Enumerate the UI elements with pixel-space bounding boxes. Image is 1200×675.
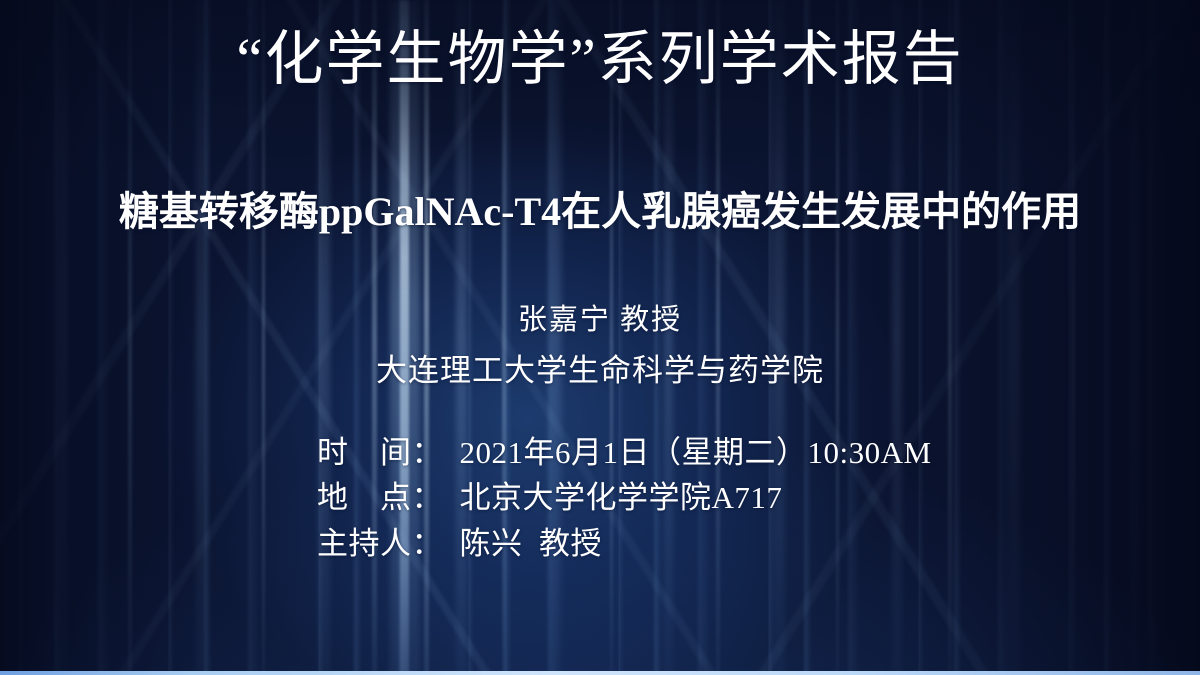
talk-title: 糖基转移酶ppGalNAc-T4在人乳腺癌发生发展中的作用 <box>0 188 1200 235</box>
speaker-name: 张嘉宁 教授 <box>0 303 1200 338</box>
slide-content: “化学生物学”系列学术报告 糖基转移酶ppGalNAc-T4在人乳腺癌发生发展中… <box>0 0 1200 675</box>
speaker-affiliation: 大连理工大学生命科学与药学院 <box>0 352 1200 389</box>
detail-line-time: 时 间： 2021年6月1日（星期二）10:30AM <box>317 430 883 475</box>
presentation-slide: “化学生物学”系列学术报告 糖基转移酶ppGalNAc-T4在人乳腺癌发生发展中… <box>0 0 1200 675</box>
event-details: 时 间： 2021年6月1日（星期二）10:30AM 地 点： 北京大学化学学院… <box>0 430 1200 566</box>
detail-line-host: 主持人： 陈兴 教授 <box>317 521 883 566</box>
series-headline: “化学生物学”系列学术报告 <box>0 26 1200 92</box>
detail-line-location: 地 点： 北京大学化学学院A717 <box>317 475 883 520</box>
